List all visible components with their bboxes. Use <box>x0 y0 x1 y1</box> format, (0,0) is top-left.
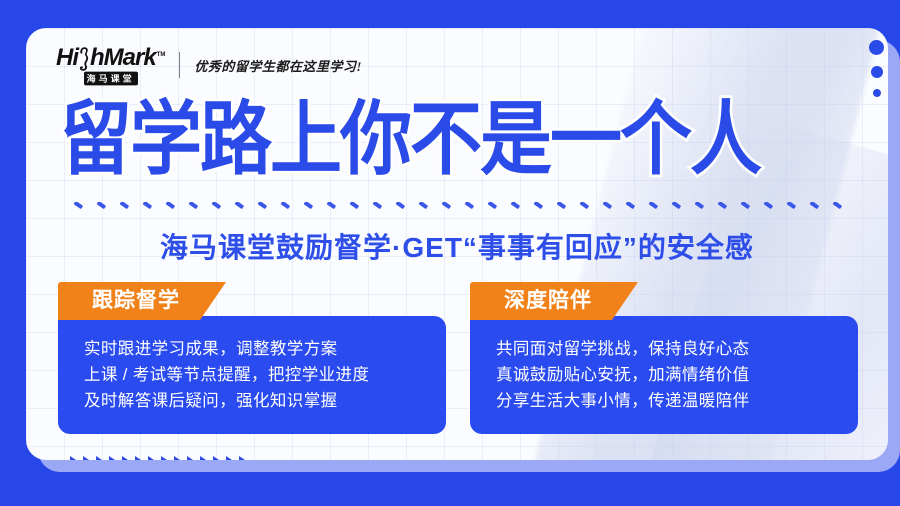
feature-card-companionship: 深度陪伴 共同面对留学挑战，保持良好心态 真诚鼓励贴心安抚，加满情绪价值 分享生… <box>470 282 858 434</box>
slash-mark <box>622 202 645 214</box>
card-body: 实时跟进学习成果，调整教学方案 上课 / 考试等节点提醒，把控学业进度 及时解答… <box>58 316 446 434</box>
slash-mark <box>461 202 484 214</box>
slash-mark <box>530 202 553 214</box>
content-panel: Hi hMark TM 海马课堂 优秀的留学生都在这里学习! <box>26 28 888 460</box>
highmark-logo: Hi hMark TM 海马课堂 <box>56 44 165 86</box>
card-line: 共同面对留学挑战，保持良好心态 <box>496 336 834 362</box>
logo-text-hi: Hi <box>56 46 78 70</box>
slash-mark <box>162 202 185 214</box>
slash-mark <box>323 202 346 214</box>
slash-mark <box>231 202 254 214</box>
slash-mark <box>484 202 507 214</box>
arrow-marker-icon <box>187 456 196 460</box>
arrow-marker-icon <box>83 456 92 460</box>
seahorse-icon <box>77 44 90 70</box>
slash-mark <box>415 202 438 214</box>
arrow-marker-icon <box>161 456 170 460</box>
slash-mark <box>806 202 829 214</box>
slash-mark <box>139 202 162 214</box>
slash-mark <box>300 202 323 214</box>
slash-mark <box>553 202 576 214</box>
feature-card-tracking: 跟踪督学 实时跟进学习成果，调整教学方案 上课 / 考试等节点提醒，把控学业进度… <box>58 282 446 434</box>
page-title: 留学路上你不是一个人 <box>60 100 760 181</box>
slash-mark <box>668 202 691 214</box>
card-line: 及时解答课后疑问，强化知识掌握 <box>84 388 422 414</box>
card-line: 上课 / 考试等节点提醒，把控学业进度 <box>84 362 422 388</box>
arrow-marker-icon <box>226 456 235 460</box>
page-subtitle: 海马课堂鼓励督学·GET“事事有回应”的安全感 <box>26 226 888 266</box>
card-line: 分享生活大事小情，传递温暖陪伴 <box>496 388 834 414</box>
arrow-marker-icon <box>96 456 105 460</box>
arrow-marker-icon <box>109 456 118 460</box>
slash-mark <box>392 202 415 214</box>
slash-mark <box>737 202 760 214</box>
logo-text-hmark: hMark <box>90 46 156 70</box>
brand-tagline: 优秀的留学生都在这里学习! <box>194 56 362 75</box>
card-body: 共同面对留学挑战，保持良好心态 真诚鼓励贴心安抚，加满情绪价值 分享生活大事小情… <box>470 316 858 434</box>
slash-mark <box>714 202 737 214</box>
slash-mark <box>277 202 300 214</box>
brand-header: Hi hMark TM 海马课堂 优秀的留学生都在这里学习! <box>56 44 362 86</box>
slash-mark <box>185 202 208 214</box>
slash-mark <box>70 202 93 214</box>
slash-mark <box>346 202 369 214</box>
arrow-marker-icon <box>239 456 248 460</box>
slash-mark <box>116 202 139 214</box>
slash-mark <box>93 202 116 214</box>
decoration-dot-large <box>869 40 884 55</box>
decoration-dot-medium <box>871 66 883 78</box>
arrow-marker-icon <box>200 456 209 460</box>
decoration-dot-small <box>873 89 881 97</box>
card-tab-label: 跟踪督学 <box>58 282 226 320</box>
slash-mark <box>783 202 806 214</box>
slash-mark <box>507 202 530 214</box>
logo-chinese-name: 海马课堂 <box>84 72 138 86</box>
slash-mark <box>208 202 231 214</box>
feature-cards: 跟踪督学 实时跟进学习成果，调整教学方案 上课 / 考试等节点提醒，把控学业进度… <box>58 282 858 434</box>
logo-trademark: TM <box>157 52 166 58</box>
slash-mark <box>760 202 783 214</box>
card-line: 真诚鼓励贴心安抚，加满情绪价值 <box>496 362 834 388</box>
arrow-marker-icon <box>213 456 222 460</box>
arrow-marker-icon <box>174 456 183 460</box>
slash-divider <box>70 202 870 214</box>
logo-wordmark: Hi hMark TM <box>56 44 165 70</box>
arrow-marker-icon <box>135 456 144 460</box>
arrow-marker-icon <box>148 456 157 460</box>
slash-mark <box>576 202 599 214</box>
arrow-marker-icon <box>70 456 79 460</box>
slash-mark <box>599 202 622 214</box>
arrow-decoration-row <box>70 456 248 460</box>
slash-mark <box>438 202 461 214</box>
slash-mark <box>254 202 277 214</box>
card-line: 实时跟进学习成果，调整教学方案 <box>84 336 422 362</box>
dot-decoration-group <box>869 40 884 97</box>
header-divider <box>179 52 180 78</box>
slash-mark <box>369 202 392 214</box>
slash-mark <box>645 202 668 214</box>
slash-mark <box>691 202 714 214</box>
slash-mark <box>829 202 852 214</box>
poster-stage: Hi hMark TM 海马课堂 优秀的留学生都在这里学习! <box>0 0 900 506</box>
arrow-marker-icon <box>122 456 131 460</box>
card-tab-label: 深度陪伴 <box>470 282 638 320</box>
